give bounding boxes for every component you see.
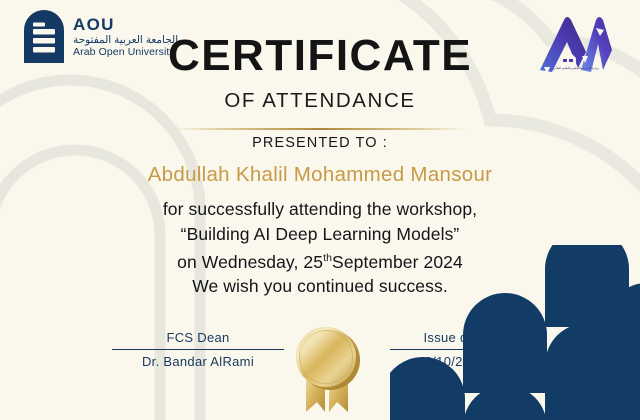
body-line-3-ordinal-suffix: th xyxy=(323,252,332,264)
body-line-3-prefix: on Wednesday, 25 xyxy=(177,252,323,272)
certificate-page: AOU الجامعة العربية المفتوحة Arab Open U… xyxy=(0,0,640,420)
issue-date-label: Issue date xyxy=(390,330,520,349)
presented-to-label: PRESENTED TO : xyxy=(0,135,640,151)
body-line-4: We wish you continued success. xyxy=(0,274,640,299)
certificate-heading: CERTIFICATE OF ATTENDANCE xyxy=(0,34,640,113)
body-line-2: “Building AI Deep Learning Models” xyxy=(0,222,640,247)
signatory-name: Dr. Bandar AlRami xyxy=(112,350,284,369)
body-line-3: on Wednesday, 25thSeptember 2024 xyxy=(0,246,640,274)
gold-divider xyxy=(175,128,465,130)
body-line-1: for successfully attending the workshop, xyxy=(0,197,640,222)
issue-date-value: 3/10/2024 xyxy=(390,350,520,369)
body-line-3-suffix: September 2024 xyxy=(332,252,463,272)
recipient-name: Abdullah Khalil Mohammed Mansour xyxy=(0,163,640,187)
certificate-body: for successfully attending the workshop,… xyxy=(0,197,640,299)
page-title: CERTIFICATE xyxy=(0,34,640,78)
aou-abbreviation: AOU xyxy=(73,16,178,33)
signatory-title: FCS Dean xyxy=(112,330,284,349)
signature-block: FCS Dean Dr. Bandar AlRami xyxy=(112,330,284,369)
issue-date-block: Issue date 3/10/2024 xyxy=(390,330,520,369)
page-subtitle: OF ATTENDANCE xyxy=(0,89,640,113)
gold-award-seal-icon xyxy=(286,322,368,416)
